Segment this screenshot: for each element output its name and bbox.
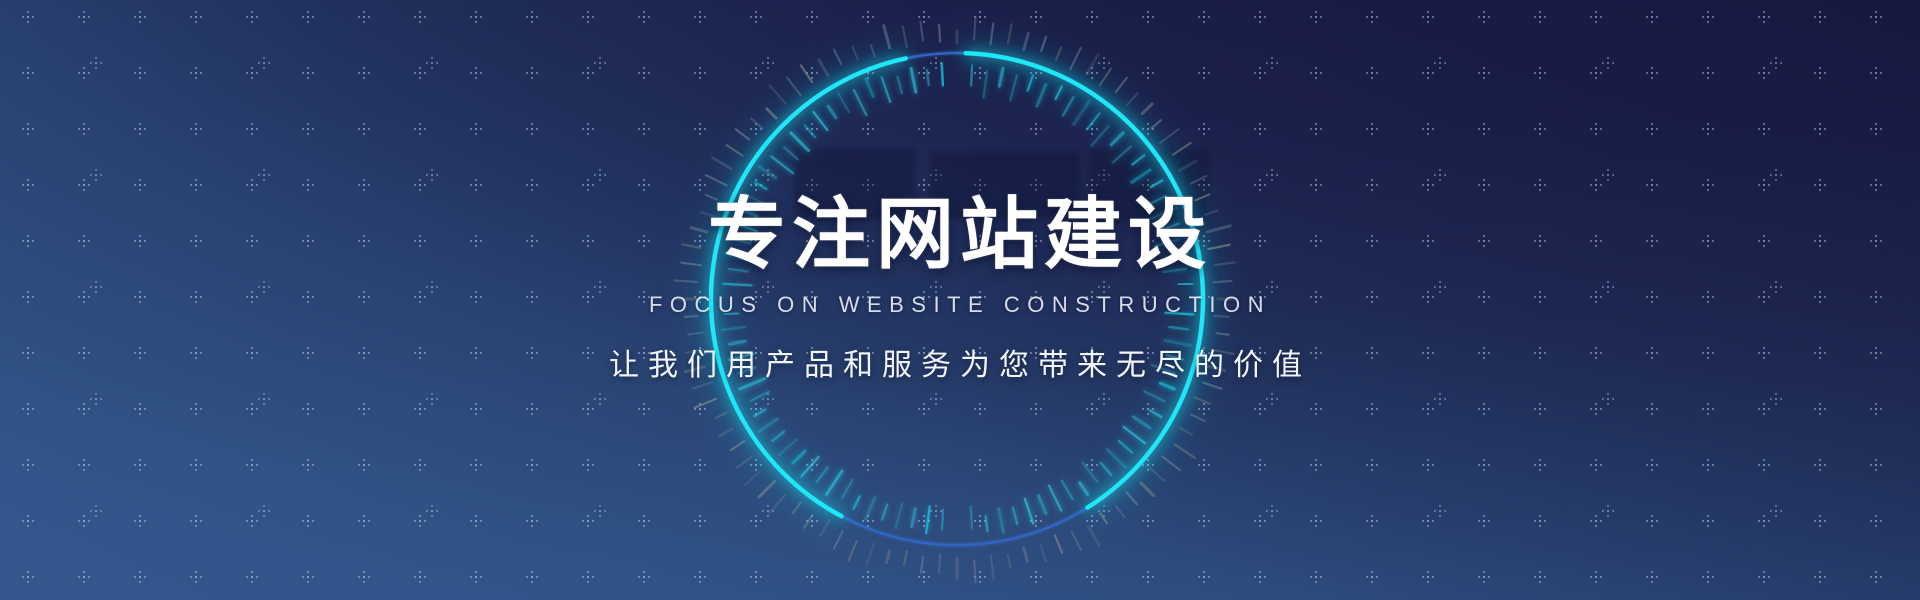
- ring-tick-inner: [784, 147, 798, 159]
- ring-tick-inner: [828, 106, 836, 118]
- ring-tick-outer: [1191, 176, 1206, 184]
- ring-tick-inner: [1111, 133, 1123, 145]
- ring-tick-inner: [1150, 411, 1161, 418]
- ring-tick-inner: [882, 504, 887, 519]
- ring-tick-inner: [816, 467, 828, 482]
- ring-tick-outer: [1149, 468, 1164, 481]
- ring-tick-outer: [767, 109, 776, 118]
- ring-tick-inner: [1101, 463, 1112, 475]
- ring-tick-inner: [1074, 101, 1090, 124]
- ring-tick-outer: [1072, 531, 1081, 550]
- ring-tick-outer: [1008, 24, 1012, 43]
- ring-tick-outer: [921, 557, 923, 573]
- ring-tick-outer: [737, 457, 751, 468]
- ring-tick-outer: [886, 551, 889, 563]
- ring-tick-inner: [1108, 450, 1126, 468]
- ring-tick-outer: [1160, 129, 1178, 143]
- ring-tick-outer: [1191, 414, 1204, 421]
- ring-tick-outer: [716, 413, 727, 418]
- ring-tick-inner: [897, 77, 901, 93]
- ring-tick-outer: [745, 472, 760, 485]
- ring-tick-outer: [991, 23, 994, 44]
- ring-tick-inner: [759, 419, 777, 431]
- ring-tick-inner: [1160, 383, 1174, 389]
- ring-tick-outer: [695, 399, 716, 408]
- ring-tick-inner: [1080, 483, 1088, 495]
- ring-tick-outer: [1116, 506, 1125, 517]
- ring-tick-outer: [853, 47, 858, 60]
- ring-tick-inner: [1083, 463, 1097, 481]
- ring-tick-inner: [912, 509, 916, 527]
- ring-tick-outer: [1141, 483, 1154, 496]
- ring-tick-outer: [1087, 55, 1098, 74]
- ring-tick-inner: [896, 504, 902, 528]
- ring-tick-inner: [1132, 170, 1150, 182]
- page-title: 专注网站建设: [0, 196, 1920, 276]
- ring-tick-outer: [713, 158, 731, 169]
- ring-tick-inner: [813, 112, 827, 130]
- ring-tick-inner: [971, 507, 972, 529]
- ring-tick-outer: [1180, 161, 1196, 171]
- ring-tick-inner: [779, 439, 797, 455]
- ring-tick-outer: [904, 551, 907, 565]
- ring-tick-outer: [834, 531, 842, 548]
- ring-tick-inner: [1124, 427, 1145, 443]
- ring-tick-outer: [1127, 93, 1138, 105]
- hero-tagline: 让我们用产品和服务为您带来无尽的价值: [0, 340, 1920, 384]
- ring-tick-outer: [801, 65, 812, 82]
- ring-tick-inner: [942, 510, 943, 530]
- ring-tick-outer: [1041, 37, 1046, 51]
- ring-tick-inner: [911, 69, 916, 93]
- ring-tick-outer: [867, 543, 874, 565]
- ring-tick-outer: [1116, 78, 1127, 92]
- ring-tick-outer: [974, 560, 975, 582]
- ring-tick-outer: [1126, 492, 1137, 504]
- ring-tick-inner: [1119, 441, 1133, 453]
- ring-tick-inner: [999, 69, 1003, 87]
- ring-tick-inner: [839, 94, 850, 112]
- ring-tick-inner: [1028, 76, 1033, 91]
- ring-tick-inner: [1092, 126, 1109, 146]
- ring-tick-inner: [755, 183, 766, 190]
- ring-tick-outer: [736, 129, 749, 139]
- ring-tick-outer: [751, 118, 762, 128]
- ring-tick-inner: [927, 70, 929, 85]
- ring-tick-outer: [804, 515, 812, 527]
- ring-tick-inner: [801, 457, 818, 477]
- ring-tick-inner: [926, 506, 930, 533]
- ring-tick-inner: [1037, 85, 1046, 106]
- ring-tick-inner: [866, 498, 875, 519]
- ring-tick-inner: [1056, 86, 1062, 99]
- ring-tick-outer: [1162, 457, 1179, 470]
- ring-tick-outer: [1088, 526, 1100, 546]
- ring-tick-inner: [1144, 391, 1164, 401]
- ring-tick-outer: [727, 145, 743, 156]
- ring-tick-outer: [1100, 69, 1111, 86]
- ring-tick-outer: [1070, 48, 1081, 70]
- ring-tick-outer: [1024, 33, 1028, 49]
- ring-tick-outer: [939, 554, 940, 572]
- ring-tick-outer: [769, 495, 785, 513]
- ring-tick-outer: [884, 26, 890, 48]
- ring-tick-outer: [1142, 104, 1152, 114]
- hero-copy-block: 专注网站建设 FOCUS ON WEBSITE CONSTRUCTION 让我们…: [0, 196, 1920, 384]
- ring-tick-outer: [920, 21, 922, 40]
- ring-tick-outer: [991, 555, 994, 579]
- ring-tick-outer: [1041, 545, 1046, 561]
- ring-tick-outer: [770, 85, 786, 103]
- ring-tick-inner: [1151, 181, 1162, 188]
- ring-tick-inner: [854, 90, 866, 115]
- ring-tick-inner: [999, 509, 1004, 533]
- ring-tick-outer: [821, 521, 830, 536]
- ring-tick-outer: [731, 441, 744, 450]
- ring-tick-outer: [871, 45, 875, 56]
- ring-tick-inner: [854, 496, 860, 509]
- ring-tick-inner: [1088, 113, 1100, 128]
- ring-tick-inner: [882, 77, 890, 102]
- ring-tick-outer: [903, 26, 907, 47]
- ring-tick-outer: [1008, 555, 1011, 568]
- hero-banner: 专注网站建设 FOCUS ON WEBSITE CONSTRUCTION 让我们…: [0, 0, 1920, 600]
- ring-tick-inner: [1039, 496, 1046, 514]
- ring-tick-inner: [805, 125, 816, 137]
- ring-tick-inner: [971, 66, 972, 86]
- ring-tick-outer: [1180, 428, 1191, 435]
- ring-tick-outer: [787, 78, 800, 95]
- ring-tick-inner: [986, 516, 988, 531]
- ring-tick-inner: [1132, 155, 1144, 164]
- ring-tick-inner: [1025, 499, 1033, 524]
- ring-tick-outer: [1175, 445, 1195, 458]
- ring-tick-inner: [842, 480, 853, 498]
- ring-tick-inner: [1133, 417, 1150, 428]
- ring-tick-outer: [849, 541, 857, 560]
- hero-subtitle: FOCUS ON WEBSITE CONSTRUCTION: [0, 292, 1920, 318]
- ring-tick-outer: [720, 429, 732, 436]
- ring-tick-inner: [754, 410, 765, 417]
- ring-tick-outer: [1056, 48, 1061, 60]
- ring-tick-inner: [942, 64, 943, 86]
- ring-tick-inner: [1049, 486, 1061, 511]
- ring-tick-inner: [759, 167, 776, 178]
- ring-tick-outer: [793, 503, 801, 513]
- ring-tick-inner: [791, 133, 809, 151]
- ring-tick-inner: [1062, 481, 1073, 499]
- ring-tick-inner: [751, 392, 769, 401]
- ring-tick-outer: [1100, 514, 1107, 524]
- ring-tick-inner: [771, 157, 792, 173]
- ring-tick-outer: [1152, 120, 1161, 128]
- ring-tick-inner: [984, 71, 988, 98]
- ring-tick-inner: [1013, 508, 1017, 524]
- ring-tick-outer: [1055, 536, 1062, 554]
- ring-tick-inner: [793, 451, 805, 463]
- ring-tick-outer: [974, 17, 976, 40]
- ring-tick-outer: [819, 60, 828, 76]
- ring-tick-outer: [834, 50, 841, 64]
- ring-tick-outer: [1173, 143, 1190, 155]
- ring-tick-inner: [1063, 97, 1074, 115]
- ring-tick-inner: [866, 79, 873, 97]
- ring-tick-inner: [826, 471, 842, 494]
- ring-tick-inner: [1010, 76, 1016, 100]
- ring-tick-outer: [939, 25, 940, 42]
- ring-tick-outer: [706, 175, 727, 185]
- ring-tick-outer: [1194, 397, 1210, 404]
- ring-tick-inner: [772, 432, 784, 441]
- ring-tick-outer: [1024, 547, 1028, 561]
- ring-tick-outer: [759, 481, 775, 497]
- ring-tick-inner: [1113, 147, 1131, 163]
